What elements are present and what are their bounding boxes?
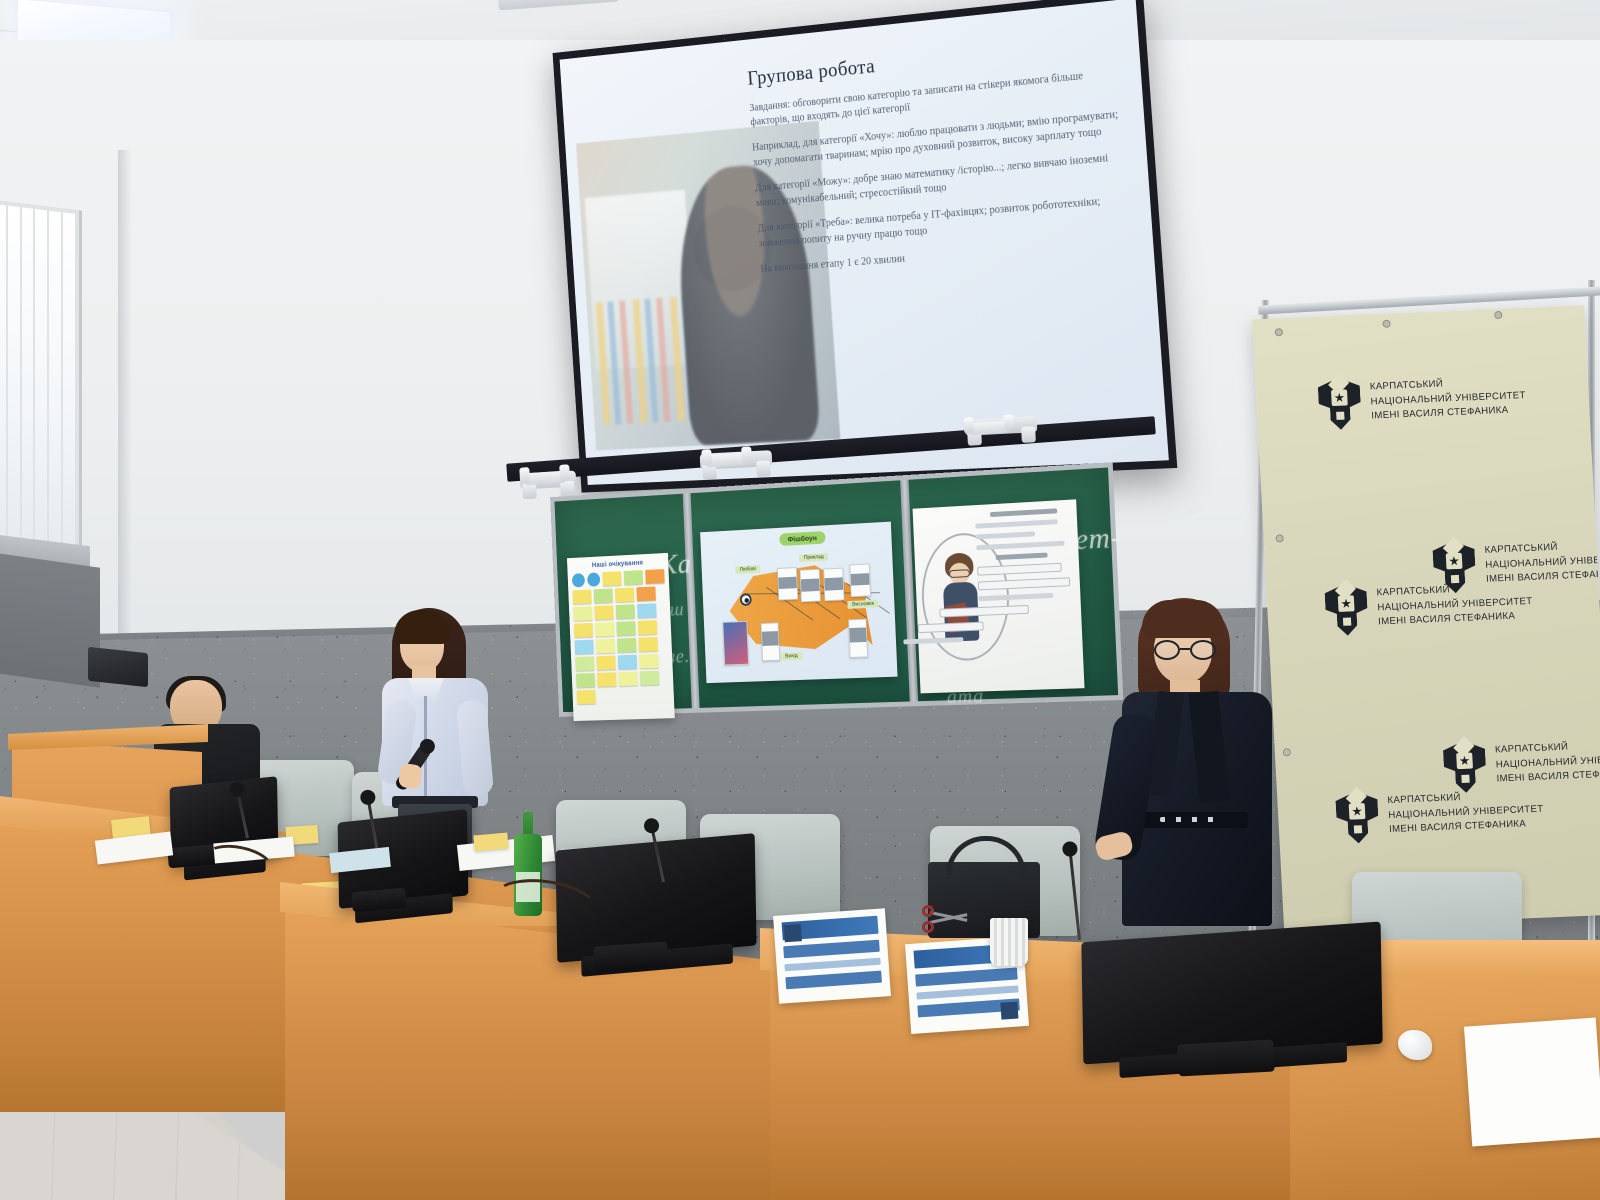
fishbone-card — [760, 623, 779, 662]
banner-grommet — [1382, 320, 1390, 328]
sticky-note — [573, 589, 592, 604]
sticky-note — [594, 588, 613, 603]
university-name: КАРПАТСЬКИЙ НАЦІОНАЛЬНИЙ УНІВЕРСИТЕТ ІМЕ… — [1376, 580, 1533, 630]
sticky-note — [597, 672, 616, 687]
wall-corner-shadow — [118, 150, 132, 670]
sticky-note — [596, 639, 615, 654]
banner-grommet — [1283, 748, 1291, 756]
projected-slide: Групова робота Завдання: обговорити свою… — [560, 0, 1169, 485]
sticky-note — [574, 623, 593, 638]
hair-fringe — [1142, 600, 1224, 638]
university-banner: КАРПАТСЬКИЙ НАЦІОНАЛЬНИЙ УНІВЕРСИТЕТ ІМЕ… — [1252, 305, 1600, 928]
sticky-note — [615, 587, 634, 602]
chalkboard: Ка иш ве. ситет- ат ата Наші очікування — [550, 462, 1123, 717]
poster-title: Наші очікування — [571, 559, 664, 570]
sticky-note — [624, 570, 643, 585]
sticky-note-grid — [572, 569, 670, 704]
banner-logo-block: КАРПАТСЬКИЙ НАЦІОНАЛЬНИЙ УНІВЕРСИТЕТ ІМЕ… — [1335, 784, 1545, 845]
sticky-note — [637, 603, 657, 618]
university-name: КАРПАТСЬКИЙ НАЦІОНАЛЬНИЙ УНІВЕРСИТЕТ ІМЕ… — [1495, 737, 1600, 787]
banner-grommet — [1275, 534, 1283, 542]
sticky-note — [595, 622, 614, 637]
sticky-note — [577, 690, 596, 705]
banner-logo-block: КАРПАТСЬКИЙ НАЦІОНАЛЬНИЙ УНІВЕРСИТЕТ ІМЕ… — [1324, 576, 1534, 637]
sticky-dot — [587, 572, 600, 587]
fishbone-tag: Вихід — [781, 652, 803, 660]
fishbone-card — [723, 621, 750, 666]
scissors[interactable] — [922, 905, 968, 935]
fishbone-tag: Любові — [735, 565, 760, 574]
eyeglasses-icon — [1154, 640, 1216, 660]
sticky-note — [575, 656, 594, 671]
fishbone-card — [848, 619, 868, 658]
fishbone-card — [777, 567, 798, 600]
sticky-note — [640, 671, 660, 686]
projection-screen: Групова робота Завдання: обговорити свою… — [553, 0, 1178, 493]
sticky-note — [645, 569, 665, 584]
slide-body: Завдання: обговорити свою категорію та з… — [749, 65, 1138, 278]
printed-handout[interactable] — [773, 908, 891, 1004]
sticky-note — [594, 605, 613, 620]
fishbone-tag: Приклад — [799, 553, 828, 562]
sticky-note — [617, 638, 636, 653]
fishbone-title: Фішбоун — [779, 531, 825, 546]
sticky-note — [616, 621, 635, 636]
university-name: КАРПАТСЬКИЙ НАЦІОНАЛЬНИЙ УНІВЕРСИТЕТ ІМЕ… — [1387, 788, 1544, 838]
banner-logo-block: КАРПАТСЬКИЙ НАЦІОНАЛЬНИЙ УНІВЕРСИТЕТ ІМЕ… — [1317, 370, 1527, 431]
yellow-note — [473, 833, 508, 852]
university-crest-icon — [1335, 791, 1380, 845]
wall-speaker — [88, 647, 148, 687]
paper-cup[interactable] — [990, 918, 1028, 966]
sticky-note — [575, 640, 594, 655]
fishbone-card — [800, 569, 821, 602]
wall-panel — [0, 552, 100, 687]
vertical-blinds[interactable] — [0, 204, 75, 556]
sticky-note — [602, 571, 621, 586]
microphone-base — [593, 941, 669, 972]
sticky-dot — [572, 573, 585, 588]
university-crest-icon — [1324, 583, 1369, 637]
lecture-hall-photo: Групова робота Завдання: обговорити свою… — [0, 0, 1600, 1200]
sticky-note — [596, 655, 615, 670]
worksheet-poster — [913, 499, 1085, 693]
sticky-note — [636, 586, 656, 601]
microphone-base — [1177, 1040, 1275, 1077]
fishbone-poster: Фішбоун Любові Приклад Висновок Вихід — [700, 522, 897, 684]
blank-paper-sheet[interactable] — [1464, 1018, 1600, 1147]
sticky-note — [618, 655, 637, 670]
banner-grommet — [1494, 311, 1502, 319]
poster-text-lines — [975, 508, 1077, 648]
fishbone-card — [850, 563, 872, 597]
sticky-note — [639, 654, 659, 669]
sticky-note — [616, 604, 635, 619]
expectations-poster: Наші очікування — [567, 553, 675, 721]
slide-text-block: Групова робота Завдання: обговорити свою… — [746, 16, 1168, 459]
sticky-note — [576, 673, 595, 688]
fishbone-tag: Висновок — [847, 600, 878, 609]
sticky-note — [573, 606, 592, 621]
fishbone-card — [823, 567, 844, 601]
sticky-note — [638, 637, 658, 652]
sticky-note — [638, 620, 658, 635]
chalkboard-divider — [683, 493, 700, 708]
banner-grommet — [1275, 328, 1283, 336]
sticky-note — [618, 671, 637, 686]
professor-standing — [1108, 596, 1280, 926]
university-crest-icon — [1317, 377, 1362, 431]
university-name: КАРПАТСЬКИЙ НАЦІОНАЛЬНИЙ УНІВЕРСИТЕТ ІМЕ… — [1370, 374, 1527, 424]
belt — [1142, 812, 1248, 828]
window — [0, 199, 82, 560]
